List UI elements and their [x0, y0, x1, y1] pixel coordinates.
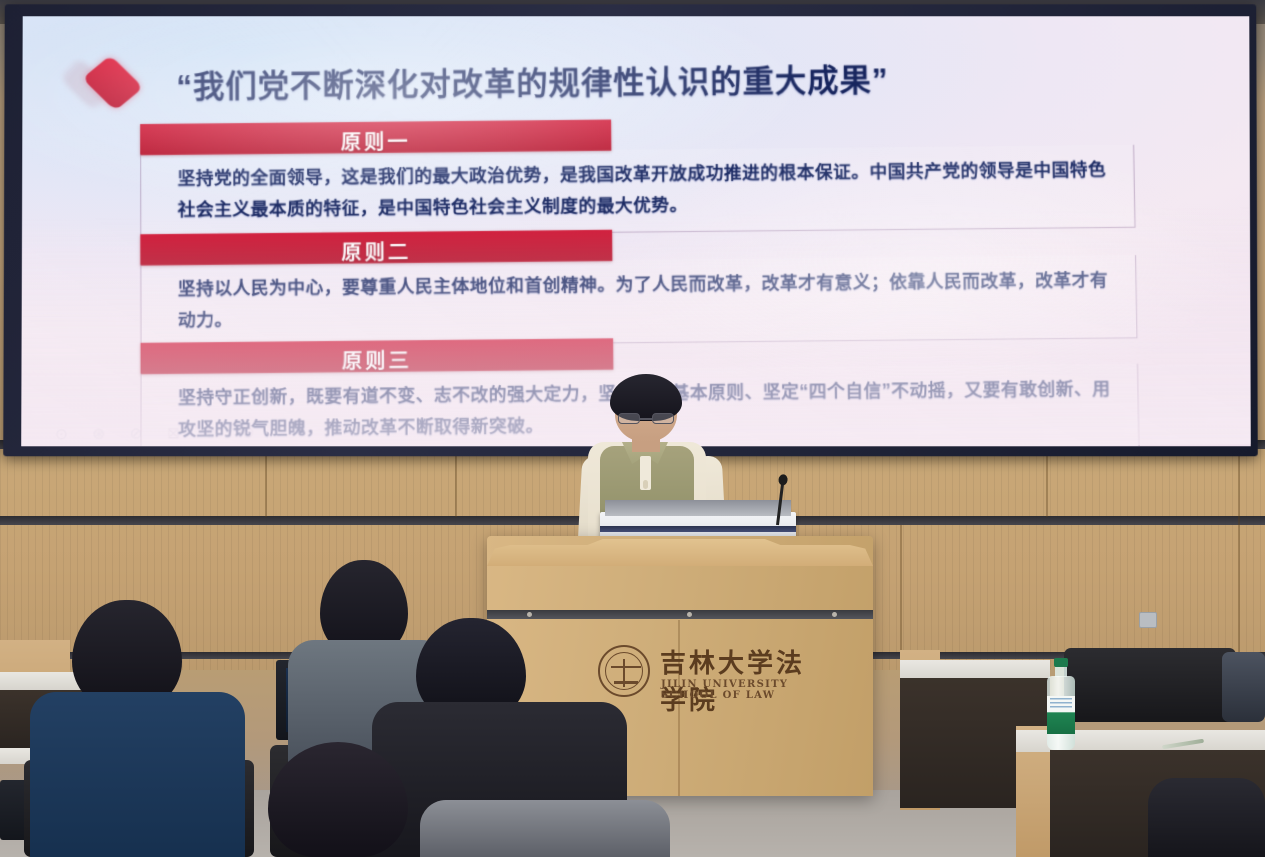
desk-surface	[900, 660, 1050, 680]
audience-torso	[420, 800, 670, 857]
water-bottle	[1046, 658, 1076, 750]
emblem-name-en: JILIN UNIVERSITY SCHOOL OF LAW	[661, 679, 828, 701]
principle-body-box-1: 坚持党的全面领导，这是我们的最大政治优势，是我国改革开放成功推进的根本保证。中国…	[140, 145, 1135, 237]
slide-title: “我们党不断深化对改革的规律性认识的重大成果”	[176, 53, 1065, 107]
podium-emblem: 吉林大学法学院 JILIN UNIVERSITY SCHOOL OF LAW	[598, 643, 828, 705]
wall-outlet	[1139, 612, 1157, 628]
lecture-hall-photo: “我们党不断深化对改革的规律性认识的重大成果” 原则一 坚持党的全面领导，这是我…	[0, 0, 1265, 857]
wall-seam	[455, 449, 457, 517]
glasses-icon	[618, 413, 674, 425]
chair-back	[1064, 648, 1236, 722]
audience-torso	[30, 692, 245, 857]
bottle-label	[1047, 696, 1075, 734]
principle-block-2: 原则二 坚持以人民为中心，要尊重人民主体地位和首创精神。为了人民而改革，改革才有…	[140, 225, 1137, 348]
audience-member	[1148, 778, 1265, 857]
principle-body-1: 坚持党的全面领导，这是我们的最大政治优势，是我国改革开放成功推进的根本保证。中国…	[178, 154, 1121, 226]
chair-back	[1222, 652, 1265, 722]
principle-block-1: 原则一 坚持党的全面领导，这是我们的最大政治优势，是我国改革开放成功推进的根本保…	[140, 115, 1135, 238]
audience-member	[30, 600, 245, 857]
audience-head	[268, 742, 408, 857]
wall-seam	[1238, 449, 1240, 669]
wall-seam	[265, 449, 267, 517]
slide-watermark: ⊙ ⊛ ⊘ ⊠ ⊜ ⊖	[55, 423, 265, 443]
wall-seam	[1046, 449, 1048, 517]
audience-member	[420, 800, 670, 857]
bottle-cap	[1054, 658, 1068, 667]
wall-seam	[900, 525, 902, 653]
speaker-button	[643, 480, 648, 489]
principle-body-2: 坚持以人民为中心，要尊重人民主体地位和首创精神。为了人民而改革，改革才有意义；依…	[178, 264, 1122, 336]
audience-torso	[1148, 778, 1265, 857]
